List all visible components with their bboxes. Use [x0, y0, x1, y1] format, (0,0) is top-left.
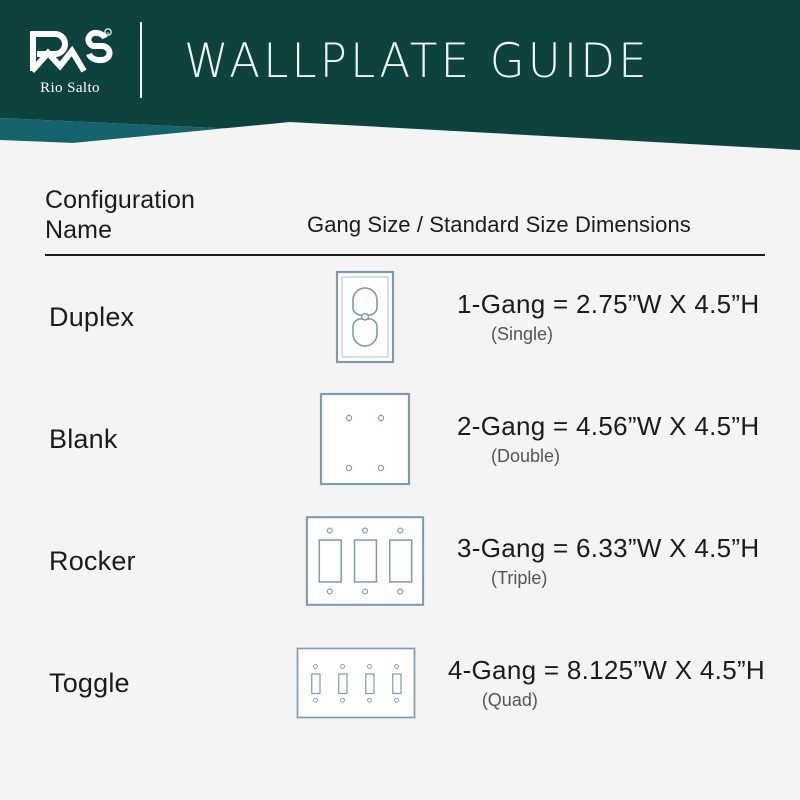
wallplate-icon-cell [305, 513, 425, 609]
dimensions-cell: 1-Gang = 2.75”W X 4.5”H (Single) [425, 289, 765, 345]
dimension-text: 4-Gang = 8.125”W X 4.5”H [448, 655, 765, 686]
rocker-switch-wallplate-icon [305, 513, 425, 609]
column-header-config-line2: Name [45, 216, 305, 246]
page-header: R Rio Salto WALLPLATE GUIDE [0, 0, 800, 175]
config-name-cell: Rocker [45, 546, 305, 577]
dimension-sub-label: (Double) [457, 446, 765, 467]
brand-logo[interactable]: R Rio Salto [0, 0, 140, 120]
config-name-cell: Toggle [45, 668, 296, 699]
wallplate-icon-cell [305, 392, 425, 486]
toggle-switch-wallplate-icon [296, 635, 416, 731]
svg-text:R: R [107, 30, 110, 35]
table-row: Blank 2-Gang = 4.56”W X 4.5”H (Double) [45, 378, 765, 500]
dimension-text: 1-Gang = 2.75”W X 4.5”H [457, 289, 765, 320]
column-header-gang-size: Gang Size / Standard Size Dimensions [305, 186, 765, 254]
wallplate-icon-cell [305, 270, 425, 364]
dimensions-cell: 4-Gang = 8.125”W X 4.5”H (Quad) [416, 655, 765, 711]
dimension-sub-label: (Triple) [457, 568, 765, 589]
column-header-config-line1: Configuration [45, 186, 305, 216]
table-row: Toggle 4-Gang = 8.125”W X 4.5”H (Quad) [45, 622, 765, 744]
header-vertical-divider [140, 22, 142, 98]
dimension-text: 3-Gang = 6.33”W X 4.5”H [457, 533, 765, 564]
column-header-configuration-name: Configuration Name [45, 186, 305, 254]
page-title: WALLPLATE GUIDE [184, 32, 650, 88]
brand-name: Rio Salto [40, 80, 100, 97]
table-header-row: Configuration Name Gang Size / Standard … [45, 186, 765, 254]
config-name-cell: Duplex [45, 302, 305, 333]
wallplate-guide-table: Configuration Name Gang Size / Standard … [45, 186, 765, 744]
table-row: Duplex 1-Gang = 2.75”W X 4.5”H (Single) [45, 256, 765, 378]
blank-wallplate-icon [319, 392, 411, 486]
wallplate-icon-cell [296, 635, 416, 731]
dimensions-cell: 3-Gang = 6.33”W X 4.5”H (Triple) [425, 533, 765, 589]
rs-monogram-mountain-logo-icon: R [27, 27, 113, 75]
duplex-outlet-wallplate-icon [335, 270, 395, 364]
dimension-sub-label: (Single) [457, 324, 765, 345]
dimensions-cell: 2-Gang = 4.56”W X 4.5”H (Double) [425, 411, 765, 467]
table-row: Rocker 3-Gang = 6.33”W X 4.5”H (Triple) [45, 500, 765, 622]
config-name-cell: Blank [45, 424, 305, 455]
dimension-sub-label: (Quad) [448, 690, 765, 711]
dimension-text: 2-Gang = 4.56”W X 4.5”H [457, 411, 765, 442]
